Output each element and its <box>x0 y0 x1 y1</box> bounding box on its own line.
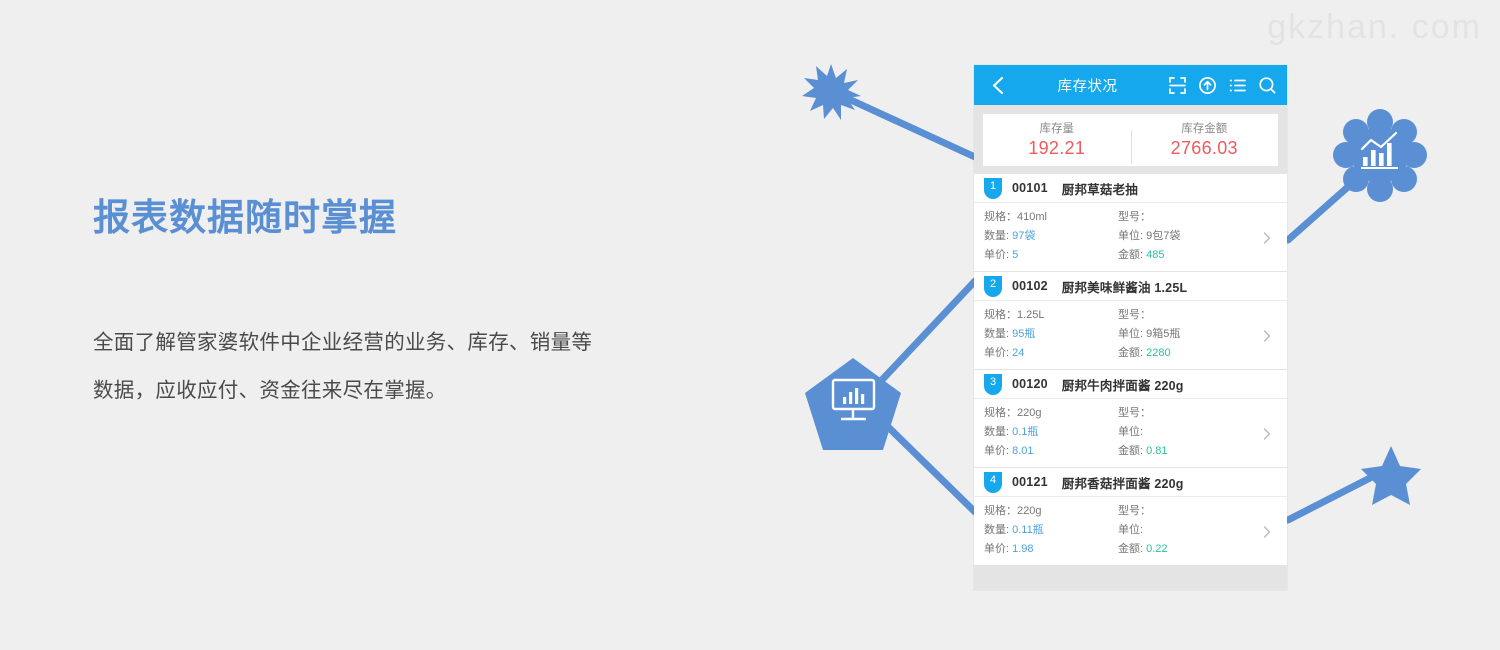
item-left-column: 规格：220g 数量: 0.1瓶 单价: 8.01 <box>974 405 1114 460</box>
page-stage: gkzhan. com 报表数据随时掌握 全面了解管家婆软件中企业经营的业务、库… <box>0 0 1500 650</box>
field-label: 规格： <box>984 211 1017 223</box>
chevron-right-icon[interactable] <box>1261 231 1273 243</box>
item-right-column: 型号： 单位: 9包7袋 金额: 485 <box>1114 209 1244 264</box>
field-qty: 数量: 97袋 <box>984 228 1114 245</box>
field-value: 2280 <box>1146 347 1170 359</box>
phone-mockup: 库存状况 <box>974 65 1287 590</box>
field-label: 单价: <box>984 347 1009 359</box>
item-right-column: 型号： 单位: 金额: 0.81 <box>1114 405 1244 460</box>
summary-card: 库存量 192.21 库存金额 2766.03 <box>983 114 1278 166</box>
field-price: 单价: 5 <box>984 247 1114 264</box>
navbar-actions <box>1168 76 1277 95</box>
field-value: 97袋 <box>1012 230 1035 242</box>
item-code: 00121 <box>1012 475 1048 489</box>
connector-line-scallop <box>1288 178 1358 240</box>
field-value: 95瓶 <box>1012 328 1035 340</box>
field-value: 1.25L <box>1017 309 1045 321</box>
field-label: 单位: <box>1118 524 1143 536</box>
field-label: 数量: <box>984 328 1009 340</box>
upload-circle-icon[interactable] <box>1198 76 1217 95</box>
field-label: 金额: <box>1118 249 1143 261</box>
summary-label: 库存金额 <box>1131 122 1279 136</box>
field-value: 220g <box>1017 505 1041 517</box>
field-value: 9包7袋 <box>1146 230 1180 242</box>
scallop-badge <box>1333 109 1427 202</box>
list-item-header: 1 00101 厨邦草菇老抽 <box>974 174 1287 203</box>
field-spec: 规格：220g <box>984 405 1114 422</box>
item-name: 厨邦香菇拌面酱 220g <box>1062 473 1184 492</box>
scan-icon[interactable] <box>1168 76 1187 95</box>
field-label: 单价: <box>984 445 1009 457</box>
field-amount: 金额: 485 <box>1118 247 1244 264</box>
bar-chart-trend-icon <box>1361 133 1398 168</box>
field-model: 型号： <box>1118 405 1244 422</box>
connector-line-pentagon-lower <box>880 419 975 512</box>
list-icon[interactable] <box>1228 76 1247 95</box>
list-item[interactable]: 1 00101 厨邦草菇老抽 规格：410ml 数量: 97袋 单价: 5 型号… <box>974 174 1287 271</box>
field-qty: 数量: 0.1瓶 <box>984 424 1114 441</box>
field-value: 24 <box>1012 347 1024 359</box>
field-price: 单价: 8.01 <box>984 443 1114 460</box>
list-item[interactable]: 3 00120 厨邦牛肉拌面酱 220g 规格：220g 数量: 0.1瓶 单价… <box>974 370 1287 467</box>
summary-cell-quantity: 库存量 192.21 <box>983 122 1131 159</box>
field-price: 单价: 24 <box>984 345 1114 362</box>
field-value: 5 <box>1012 249 1018 261</box>
field-label: 规格： <box>984 407 1017 419</box>
rank-badge: 1 <box>984 178 1002 199</box>
field-value: 0.81 <box>1146 445 1167 457</box>
field-value: 0.11瓶 <box>1012 524 1044 536</box>
field-label: 单位: <box>1118 426 1143 438</box>
field-label: 规格： <box>984 505 1017 517</box>
app-navbar: 库存状况 <box>974 65 1287 105</box>
item-left-column: 规格：220g 数量: 0.11瓶 单价: 1.98 <box>974 503 1114 558</box>
field-amount: 金额: 0.22 <box>1118 541 1244 558</box>
field-unit: 单位: <box>1118 522 1244 539</box>
chevron-left-icon[interactable] <box>988 75 1008 95</box>
connector-line-star <box>1288 478 1370 520</box>
field-label: 单位: <box>1118 328 1143 340</box>
field-label: 单价: <box>984 249 1009 261</box>
list-item-body: 规格：220g 数量: 0.11瓶 单价: 1.98 型号： 单位: 金额: 0… <box>974 497 1287 565</box>
field-label: 数量: <box>984 230 1009 242</box>
field-qty: 数量: 95瓶 <box>984 326 1114 343</box>
page-headline: 报表数据随时掌握 <box>93 195 613 241</box>
list-item[interactable]: 2 00102 厨邦美味鲜酱油 1.25L 规格：1.25L 数量: 95瓶 单… <box>974 272 1287 369</box>
rank-badge: 4 <box>984 472 1002 493</box>
field-unit: 单位: <box>1118 424 1244 441</box>
rank-badge: 3 <box>984 374 1002 395</box>
item-right-column: 型号： 单位: 金额: 0.22 <box>1114 503 1244 558</box>
field-label: 型号： <box>1118 211 1151 223</box>
monitor-bars <box>843 388 864 404</box>
field-label: 型号： <box>1118 309 1151 321</box>
field-label: 金额: <box>1118 347 1143 359</box>
field-label: 金额: <box>1118 445 1143 457</box>
field-spec: 规格：1.25L <box>984 307 1114 324</box>
connector-line-pentagon-upper <box>880 281 975 382</box>
chevron-right-icon[interactable] <box>1261 329 1273 341</box>
summary-label: 库存量 <box>983 122 1131 136</box>
field-model: 型号： <box>1118 209 1244 226</box>
item-left-column: 规格：410ml 数量: 97袋 单价: 5 <box>974 209 1114 264</box>
item-right-column: 型号： 单位: 9箱5瓶 金额: 2280 <box>1114 307 1244 362</box>
field-value: 0.1瓶 <box>1012 426 1038 438</box>
field-label: 数量: <box>984 524 1009 536</box>
field-value: 9箱5瓶 <box>1146 328 1180 340</box>
field-label: 规格： <box>984 309 1017 321</box>
item-left-column: 规格：1.25L 数量: 95瓶 单价: 24 <box>974 307 1114 362</box>
pentagon-badge <box>805 358 901 450</box>
field-label: 型号： <box>1118 407 1151 419</box>
field-label: 金额: <box>1118 543 1143 555</box>
field-model: 型号： <box>1118 307 1244 324</box>
field-value: 410ml <box>1017 211 1047 223</box>
search-icon[interactable] <box>1258 76 1277 95</box>
summary-value: 2766.03 <box>1131 137 1279 159</box>
phone-footer <box>974 566 1287 590</box>
field-model: 型号： <box>1118 503 1244 520</box>
scallop-petals <box>1333 109 1427 202</box>
item-code: 00101 <box>1012 181 1048 195</box>
field-unit: 单位: 9包7袋 <box>1118 228 1244 245</box>
list-item-header: 2 00102 厨邦美味鲜酱油 1.25L <box>974 272 1287 301</box>
list-item-header: 3 00120 厨邦牛肉拌面酱 220g <box>974 370 1287 399</box>
summary-value: 192.21 <box>983 137 1131 159</box>
watermark-text: gkzhan. com <box>1267 8 1482 47</box>
field-value: 220g <box>1017 407 1041 419</box>
field-value: 0.22 <box>1146 543 1167 555</box>
list-item-body: 规格：1.25L 数量: 95瓶 单价: 24 型号： 单位: 9箱5瓶 金额:… <box>974 301 1287 369</box>
copy-block: 报表数据随时掌握 全面了解管家婆软件中企业经营的业务、库存、销量等数据，应收应付… <box>93 195 613 415</box>
field-spec: 规格：410ml <box>984 209 1114 226</box>
field-label: 型号： <box>1118 505 1151 517</box>
item-name: 厨邦草菇老抽 <box>1062 179 1138 198</box>
item-code: 00102 <box>1012 279 1048 293</box>
item-name: 厨邦牛肉拌面酱 220g <box>1062 375 1184 394</box>
list-item-body: 规格：410ml 数量: 97袋 单价: 5 型号： 单位: 9包7袋 金额: … <box>974 203 1287 271</box>
list-item[interactable]: 4 00121 厨邦香菇拌面酱 220g 规格：220g 数量: 0.11瓶 单… <box>974 468 1287 565</box>
field-value: 8.01 <box>1012 445 1033 457</box>
starburst-badge <box>802 64 861 120</box>
page-body-copy: 全面了解管家婆软件中企业经营的业务、库存、销量等数据，应收应付、资金往来尽在掌握… <box>93 319 593 415</box>
rank-badge: 2 <box>984 276 1002 297</box>
field-spec: 规格：220g <box>984 503 1114 520</box>
field-unit: 单位: 9箱5瓶 <box>1118 326 1244 343</box>
chevron-right-icon[interactable] <box>1261 427 1273 439</box>
summary-cell-amount: 库存金额 2766.03 <box>1131 122 1279 159</box>
field-amount: 金额: 0.81 <box>1118 443 1244 460</box>
field-price: 单价: 1.98 <box>984 541 1114 558</box>
item-name: 厨邦美味鲜酱油 1.25L <box>1062 277 1188 296</box>
monitor-bar-chart-icon <box>833 380 874 419</box>
field-amount: 金额: 2280 <box>1118 345 1244 362</box>
field-value: 1.98 <box>1012 543 1033 555</box>
star-badge <box>1361 446 1421 505</box>
list-item-body: 规格：220g 数量: 0.1瓶 单价: 8.01 型号： 单位: 金额: 0.… <box>974 399 1287 467</box>
field-qty: 数量: 0.11瓶 <box>984 522 1114 539</box>
field-label: 单位: <box>1118 230 1143 242</box>
field-label: 单价: <box>984 543 1009 555</box>
list-item-header: 4 00121 厨邦香菇拌面酱 220g <box>974 468 1287 497</box>
connector-line-starburst <box>840 95 975 157</box>
field-label: 数量: <box>984 426 1009 438</box>
chevron-right-icon[interactable] <box>1261 525 1273 537</box>
inventory-list: 1 00101 厨邦草菇老抽 规格：410ml 数量: 97袋 单价: 5 型号… <box>974 174 1287 565</box>
field-value: 485 <box>1146 249 1164 261</box>
item-code: 00120 <box>1012 377 1048 391</box>
